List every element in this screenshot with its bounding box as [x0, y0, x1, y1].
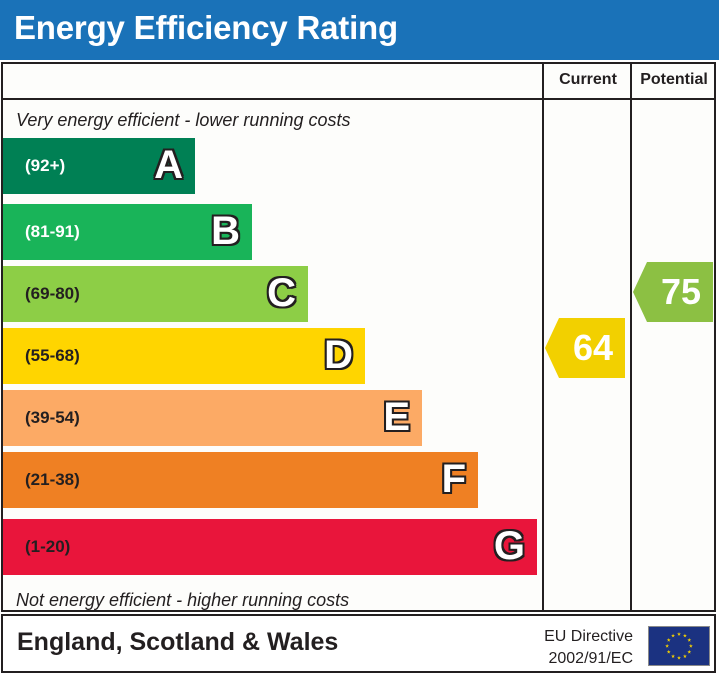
footer-directive: EU Directive 2002/91/EC — [523, 626, 633, 669]
band-letter-label: C — [267, 273, 296, 313]
energy-efficiency-rating-chart: Energy Efficiency Rating Current Potenti… — [0, 0, 719, 675]
directive-line-1: EU Directive — [523, 626, 633, 648]
eu-flag-icon — [648, 626, 710, 666]
band-letter-label: A — [154, 145, 183, 185]
rating-band-e: (39-54)E — [3, 390, 422, 446]
band-range-label: (55-68) — [25, 346, 80, 366]
rating-band-g: (1-20)G — [3, 519, 537, 575]
column-divider-current — [542, 62, 544, 612]
band-range-label: (92+) — [25, 156, 65, 176]
eu-flag-stars — [649, 627, 709, 665]
potential-rating-value: 75 — [661, 274, 701, 310]
column-divider-potential — [630, 62, 632, 612]
band-letter-label: B — [211, 211, 240, 251]
current-rating-value: 64 — [573, 330, 613, 366]
current-rating-marker: 64 — [545, 318, 625, 378]
footer-region-label: England, Scotland & Wales — [17, 628, 338, 657]
band-letter-label: G — [494, 526, 525, 566]
column-header-current: Current — [544, 62, 632, 98]
rating-band-a: (92+)A — [3, 138, 195, 194]
title-bar: Energy Efficiency Rating — [0, 0, 719, 60]
band-range-label: (21-38) — [25, 470, 80, 490]
band-range-label: (39-54) — [25, 408, 80, 428]
directive-line-2: 2002/91/EC — [523, 648, 633, 670]
potential-rating-marker: 75 — [633, 262, 713, 322]
band-range-label: (1-20) — [25, 537, 70, 557]
band-letter-label: D — [324, 335, 353, 375]
caption-efficient: Very energy efficient - lower running co… — [16, 110, 351, 131]
column-header-potential: Potential — [632, 62, 716, 98]
band-range-label: (69-80) — [25, 284, 80, 304]
rating-band-f: (21-38)F — [3, 452, 478, 508]
column-header-row: Current Potential — [1, 62, 716, 100]
page-title: Energy Efficiency Rating — [14, 9, 398, 47]
footer-bar: England, Scotland & Wales EU Directive 2… — [1, 614, 716, 673]
band-letter-label: F — [442, 459, 466, 499]
rating-band-c: (69-80)C — [3, 266, 308, 322]
rating-band-d: (55-68)D — [3, 328, 365, 384]
rating-band-b: (81-91)B — [3, 204, 252, 260]
caption-inefficient: Not energy efficient - higher running co… — [16, 590, 349, 611]
band-range-label: (81-91) — [25, 222, 80, 242]
band-letter-label: E — [383, 397, 410, 437]
